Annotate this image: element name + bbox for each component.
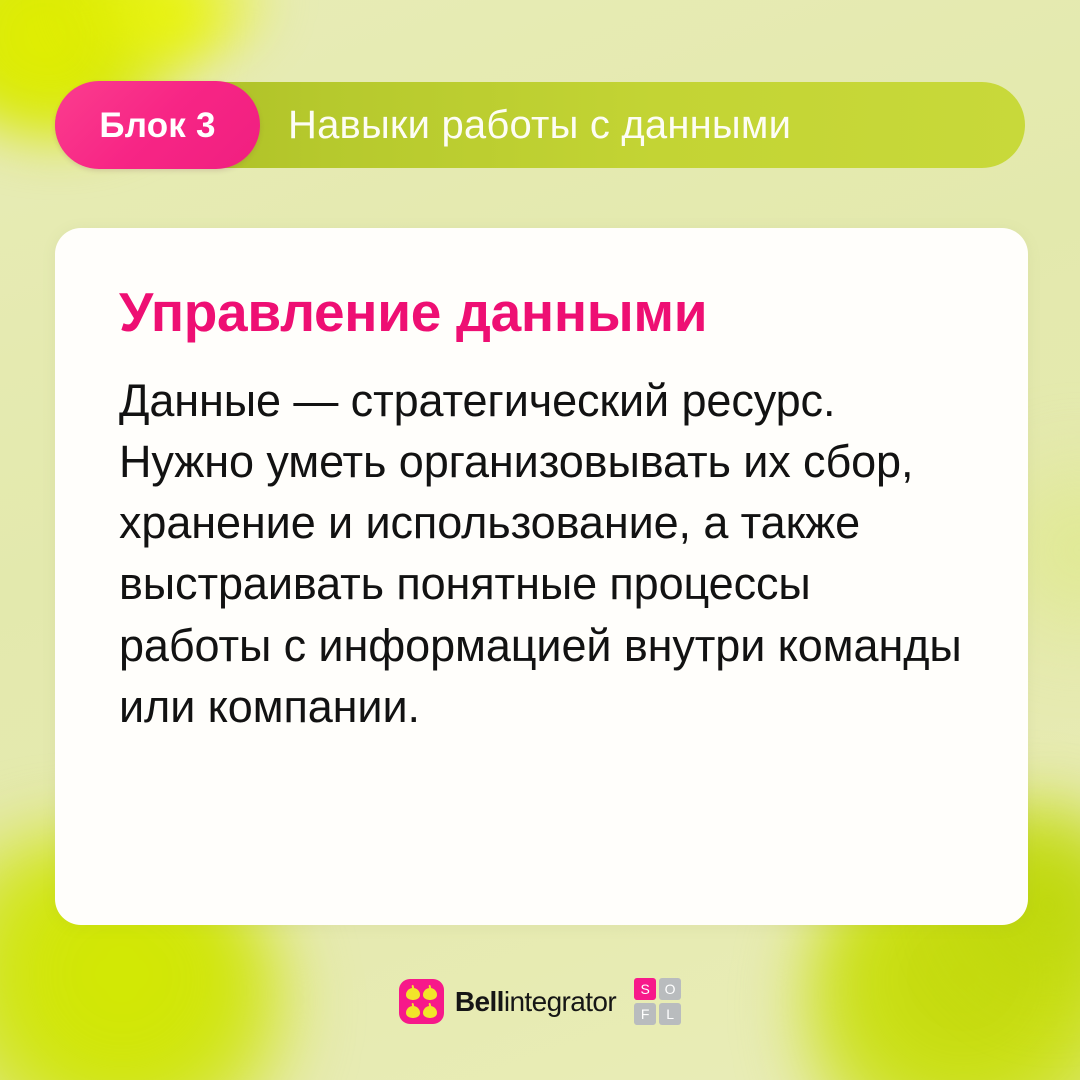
bell-icon — [406, 1003, 420, 1018]
sofl-tile-o: O — [659, 978, 681, 1000]
sofl-tile-s: S — [634, 978, 656, 1000]
card-body-text: Данные — стратегический ресурс. Нужно ум… — [119, 370, 966, 737]
bell-mark-icon — [399, 979, 444, 1024]
bell-icon — [423, 1003, 437, 1018]
bellintegrator-logo: Bellintegrator — [399, 979, 616, 1024]
card-title: Управление данными — [119, 284, 966, 342]
sofl-tile-f: F — [634, 1003, 656, 1025]
bell-icon — [423, 985, 437, 1000]
content-card: Управление данными Данные — стратегическ… — [55, 228, 1028, 925]
slide-root: Блок 3 Навыки работы с данными Управлени… — [0, 0, 1080, 1080]
brand-wordmark-bold: Bell — [455, 986, 504, 1017]
footer: Bellintegrator S O F L — [0, 978, 1080, 1025]
background-blob-top-left-2 — [55, 0, 285, 65]
brand-wordmark-light: integrator — [504, 986, 616, 1017]
header-title: Навыки работы с данными — [288, 105, 791, 145]
block-number-label: Блок 3 — [99, 108, 215, 143]
bell-icon — [406, 985, 420, 1000]
header-bar: Блок 3 Навыки работы с данными — [55, 82, 1025, 168]
brand-wordmark: Bellintegrator — [455, 988, 616, 1016]
block-number-badge: Блок 3 — [55, 81, 260, 169]
sofl-tile-l: L — [659, 1003, 681, 1025]
sofl-logo: S O F L — [634, 978, 681, 1025]
